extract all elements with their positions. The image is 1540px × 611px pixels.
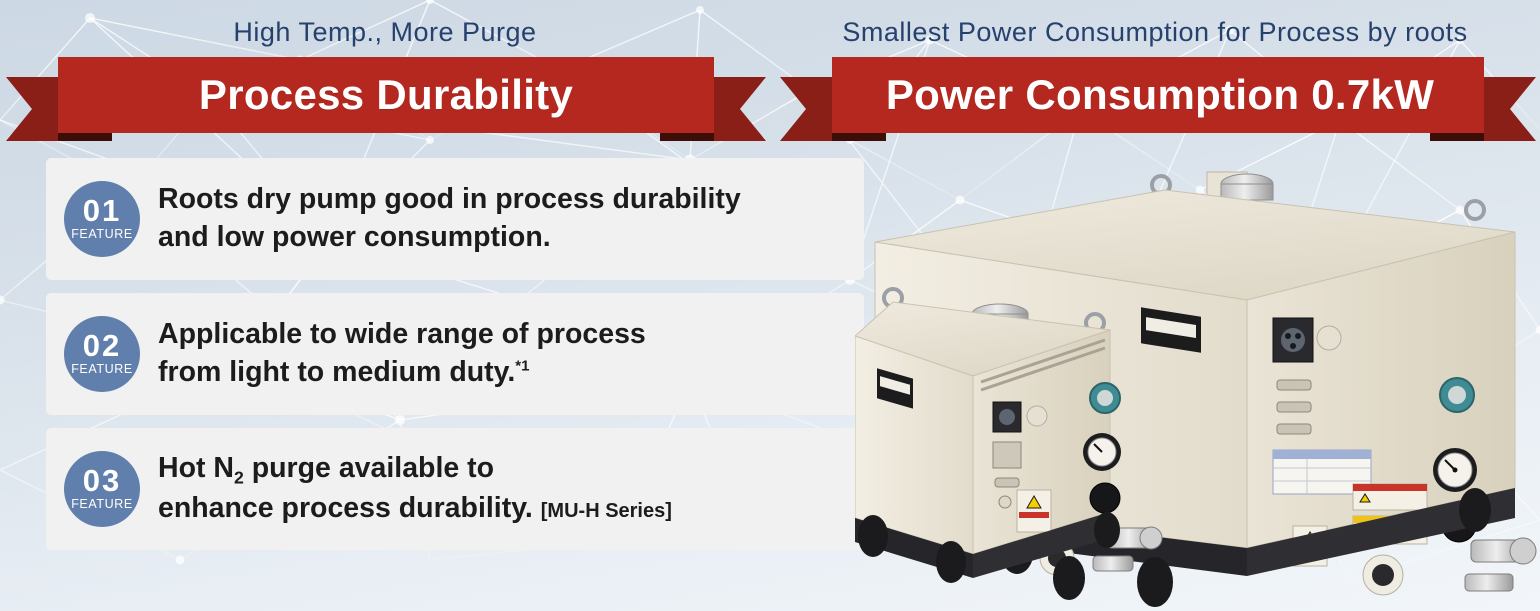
pressure-gauge (1433, 448, 1477, 492)
feature-caption: FEATURE (71, 226, 133, 242)
banner-process-durability: Process Durability (6, 57, 766, 141)
product-photo-roots-dry-pumps (855, 150, 1540, 611)
feature-line-2-wrap: enhance process durability. [MU-H Series… (158, 490, 672, 528)
feature-line-2: enhance process durability. (158, 492, 533, 524)
promo-banner: High Temp., More Purge Smallest Power Co… (0, 0, 1540, 611)
feature-badge-03: 03 FEATURE (64, 451, 140, 527)
feature-badge-02: 02 FEATURE (64, 316, 140, 392)
feature-badge-01: 01 FEATURE (64, 181, 140, 257)
feature-text-01: Roots dry pump good in process durabilit… (158, 181, 741, 257)
feature-number: 02 (83, 331, 121, 360)
outlet-port (1363, 555, 1403, 595)
feature-caption: FEATURE (71, 496, 133, 512)
feature-list: 01 FEATURE Roots dry pump good in proces… (46, 158, 864, 550)
feature-line-2-wrap: from light to medium duty.*1 (158, 354, 646, 392)
feature-number: 01 (83, 196, 121, 225)
quick-connect-fittings (1465, 538, 1536, 591)
feature-line-1: Applicable to wide range of process (158, 318, 646, 350)
right-subtitle: Smallest Power Consumption for Process b… (770, 17, 1540, 48)
n2-valve-knob (1440, 378, 1474, 412)
n2-valve-knob (1090, 383, 1120, 413)
banner-power-consumption: Power Consumption 0.7kW (780, 57, 1536, 141)
pressure-gauge (1083, 433, 1121, 471)
warning-labels (1017, 490, 1051, 532)
exhaust-port (1090, 483, 1120, 513)
banner-label-left: Process Durability (6, 57, 766, 133)
feature-card-02: 02 FEATURE Applicable to wide range of p… (46, 293, 864, 415)
feature-footnote: *1 (515, 358, 529, 375)
feature-series-tag: [MU-H Series] (541, 500, 672, 522)
feature-text-02: Applicable to wide range of process from… (158, 316, 646, 392)
feature-text-03: Hot N2 purge available to enhance proces… (158, 450, 672, 528)
feature-card-03: 03 FEATURE Hot N2 purge available to enh… (46, 428, 864, 550)
feature-line-1: Roots dry pump good in process durabilit… (158, 183, 741, 215)
feature-line-2: from light to medium duty. (158, 356, 515, 388)
communication-ports (1277, 380, 1311, 434)
feature-card-01: 01 FEATURE Roots dry pump good in proces… (46, 158, 864, 280)
banner-label-right: Power Consumption 0.7kW (780, 57, 1536, 133)
feature-line-1: Hot N2 purge available to (158, 452, 494, 484)
left-subtitle: High Temp., More Purge (0, 17, 770, 48)
feature-caption: FEATURE (71, 361, 133, 377)
feature-line-2: and low power consumption. (158, 219, 741, 257)
feature-number: 03 (83, 466, 121, 495)
